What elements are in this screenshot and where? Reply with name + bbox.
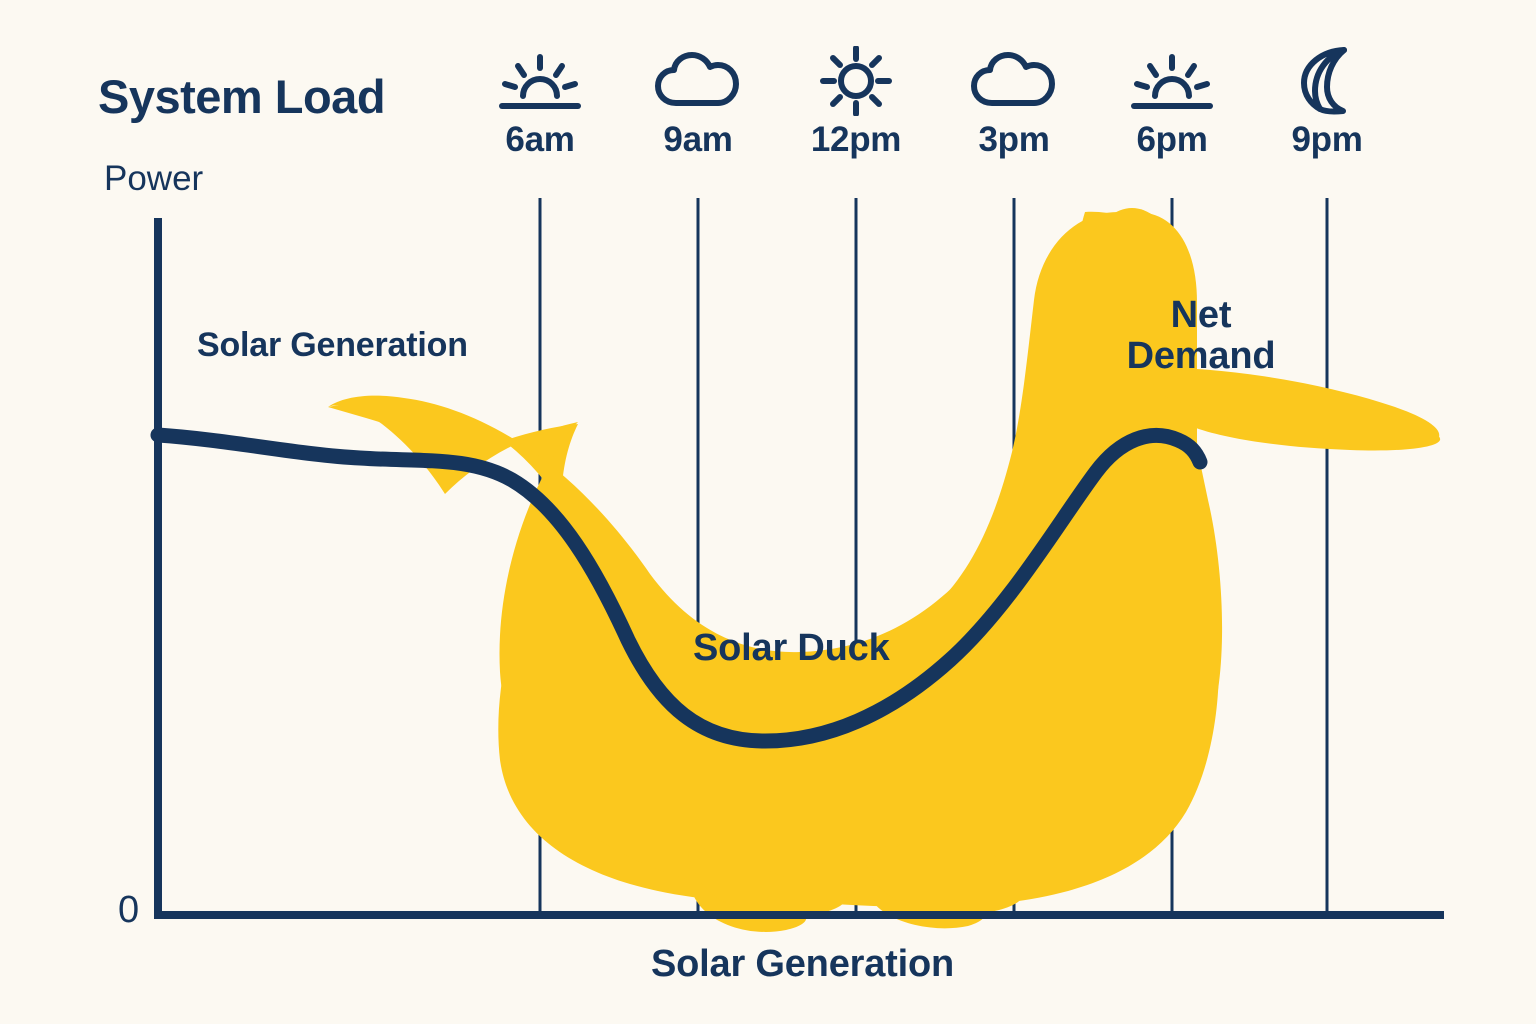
sunrise-icon <box>460 48 620 114</box>
time-tick-label: 6am <box>460 120 620 160</box>
solar-duck-label: Solar Duck <box>693 628 890 669</box>
sun-icon <box>776 48 936 114</box>
time-tick-12pm: 12pm <box>776 48 936 160</box>
time-tick-label: 9pm <box>1247 120 1407 160</box>
cloud-icon <box>934 48 1094 114</box>
time-tick-label: 12pm <box>776 120 936 160</box>
solar-generation-top-label: Solar Generation <box>197 327 468 364</box>
time-tick-label: 6pm <box>1092 120 1252 160</box>
solar-generation-bottom-label: Solar Generation <box>651 944 954 985</box>
page-title: System Load <box>98 72 385 123</box>
time-tick-6pm: 6pm <box>1092 48 1252 160</box>
time-tick-3pm: 3pm <box>934 48 1094 160</box>
moon-icon <box>1247 48 1407 114</box>
net-demand-label: NetDemand <box>1106 295 1296 377</box>
cloud-icon <box>618 48 778 114</box>
y-axis-label: Power <box>104 160 203 198</box>
duck-neck-shape <box>328 212 1219 907</box>
time-tick-6am: 6am <box>460 48 620 160</box>
duck-curve-infographic: System Load Power 0 Solar Generation Sol… <box>0 0 1536 1024</box>
time-tick-9am: 9am <box>618 48 778 160</box>
net-demand-line1: Net <box>1171 294 1232 336</box>
time-tick-9pm: 9pm <box>1247 48 1407 160</box>
sunset-icon <box>1092 48 1252 114</box>
time-tick-label: 3pm <box>934 120 1094 160</box>
net-demand-line2: Demand <box>1127 335 1276 377</box>
origin-label: 0 <box>118 890 139 931</box>
time-tick-label: 9am <box>618 120 778 160</box>
